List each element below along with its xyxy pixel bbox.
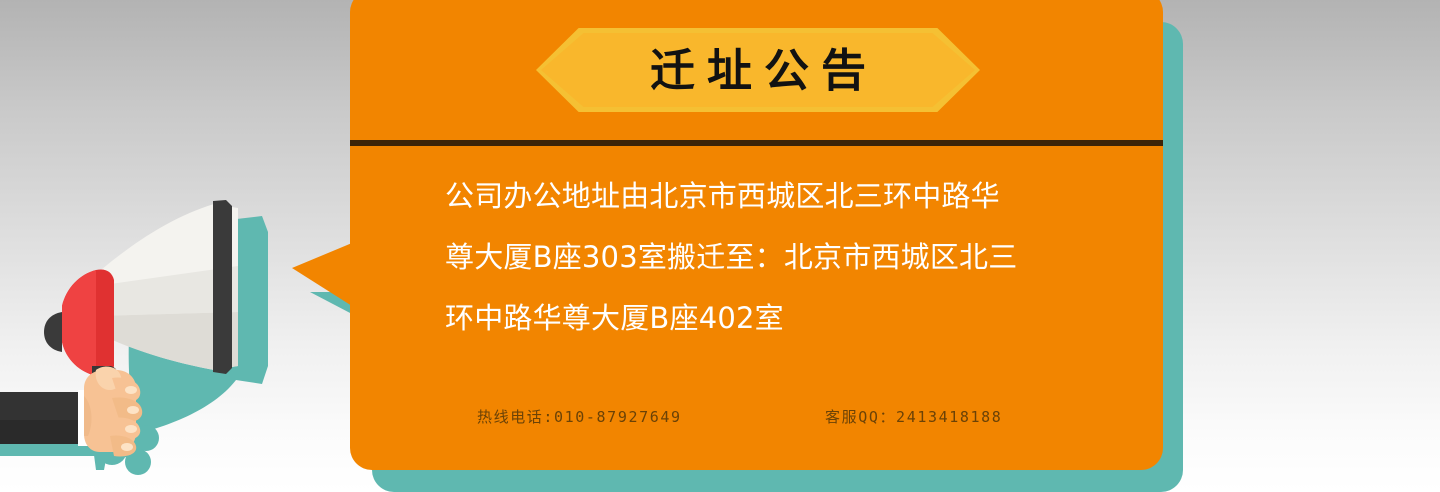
megaphone-svg [0,170,300,492]
title-divider [350,140,1163,146]
megaphone-illustration [0,170,300,492]
body-line-2: 尊大厦B座303室搬迁至：北京市西城区北三 [445,227,1093,288]
body-line-3: 环中路华尊大厦B座402室 [445,288,1093,349]
qq-text: 客服QQ：2413418188 [825,406,1002,427]
page-title: 迁址公告 [536,28,980,112]
hand [84,367,142,457]
speech-tail [292,243,352,306]
title-banner: 迁址公告 [536,28,980,112]
poster-canvas: 迁址公告 公司办公地址由北京市西城区北三环中路华 尊大厦B座303室搬迁至：北京… [0,0,1440,492]
megaphone-back-cone [44,269,114,376]
body-line-1: 公司办公地址由北京市西城区北三环中路华 [445,166,1093,227]
megaphone-rim [213,200,232,374]
announcement-body: 公司办公地址由北京市西城区北三环中路华 尊大厦B座303室搬迁至：北京市西城区北… [445,166,1093,349]
contact-footer: 热线电话:010-87927649 客服QQ：2413418188 [445,406,1093,427]
hotline-text: 热线电话:010-87927649 [445,406,825,427]
jacket-sleeve [0,390,92,446]
